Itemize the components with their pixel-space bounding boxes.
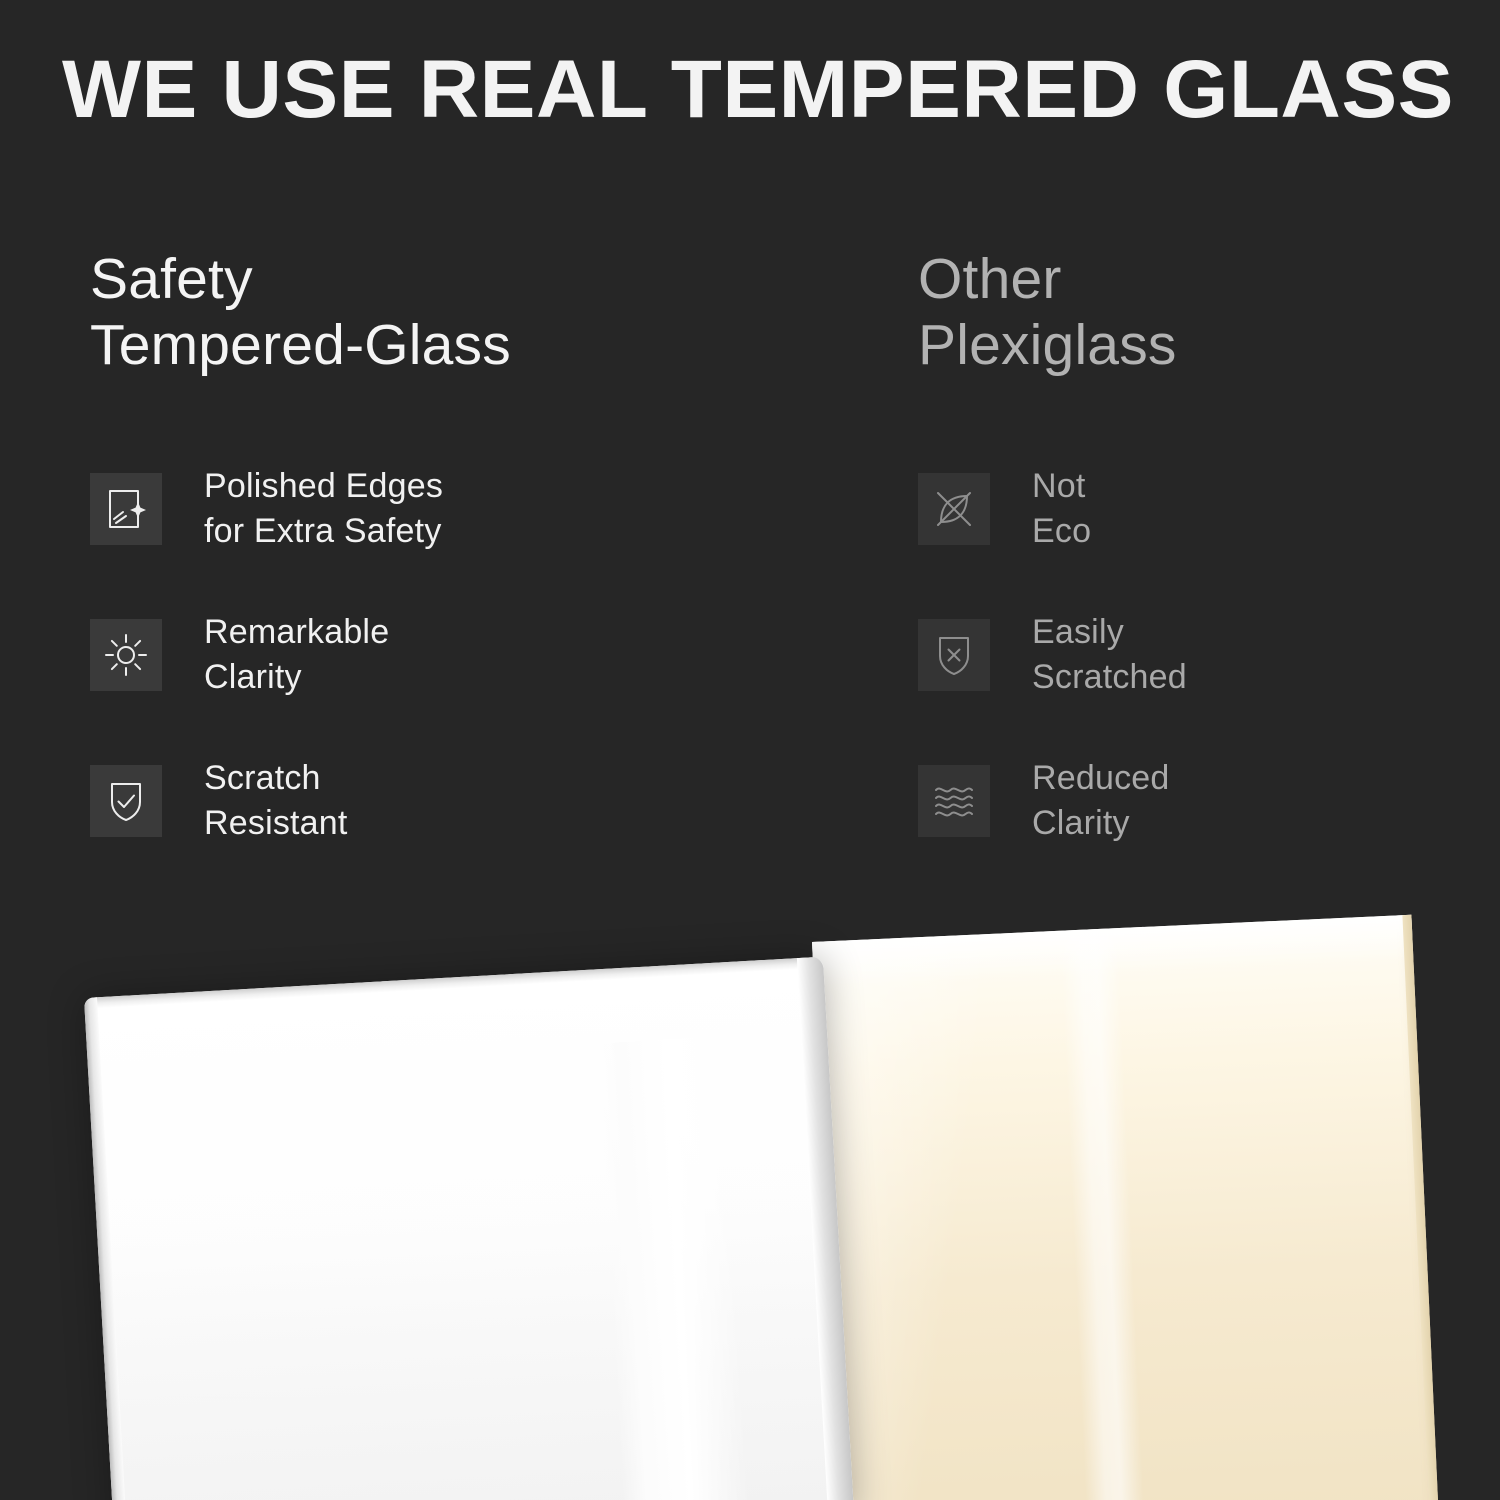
page-title: WE USE REAL TEMPERED GLASS	[62, 42, 1480, 138]
feature-label: Scratch Resistant	[204, 756, 348, 846]
feature-label: Not Eco	[1032, 464, 1091, 554]
tempered-glass-top-bevel	[84, 957, 823, 1009]
column-heading-tempered-glass: Safety Tempered-Glass	[90, 246, 790, 378]
feature-row: Not Eco	[918, 473, 1478, 545]
infographic-canvas: WE USE REAL TEMPERED GLASS Safety Temper…	[0, 0, 1500, 1500]
column-heading-plexiglass: Other Plexiglass	[918, 246, 1478, 378]
feature-label: Reduced Clarity	[1032, 756, 1170, 846]
feature-row: Polished Edges for Extra Safety	[90, 473, 790, 545]
tempered-glass-panel	[84, 957, 854, 1500]
sun-brightness-icon	[90, 619, 162, 691]
feature-label: Remarkable Clarity	[204, 610, 389, 700]
feature-row: Remarkable Clarity	[90, 619, 790, 691]
plexiglass-panel	[812, 915, 1439, 1500]
feature-row: Reduced Clarity	[918, 765, 1478, 837]
plexiglass-reflection	[1060, 928, 1145, 1500]
feature-label: Easily Scratched	[1032, 610, 1187, 700]
comparison-column-plexiglass: Other Plexiglass Not Eco	[918, 246, 1478, 816]
tempered-glass-reflection	[597, 1036, 754, 1500]
leaf-crossed-out-icon	[918, 473, 990, 545]
comparison-column-tempered-glass: Safety Tempered-Glass Polished Edges for…	[90, 246, 790, 816]
shield-check-icon	[90, 765, 162, 837]
feature-row: Easily Scratched	[918, 619, 1478, 691]
shield-x-icon	[918, 619, 990, 691]
feature-row: Scratch Resistant	[90, 765, 790, 837]
polished-glass-pane-sparkle-icon	[90, 473, 162, 545]
plexiglass-right-edge	[1402, 915, 1438, 1500]
feature-label: Polished Edges for Extra Safety	[204, 464, 443, 554]
product-panels-illustration	[0, 870, 1500, 1500]
wavy-distortion-lines-icon	[918, 765, 990, 837]
feature-list-tempered-glass: Polished Edges for Extra Safety Remarkab…	[90, 473, 790, 837]
feature-list-plexiglass: Not Eco Easily Scratched	[918, 473, 1478, 837]
